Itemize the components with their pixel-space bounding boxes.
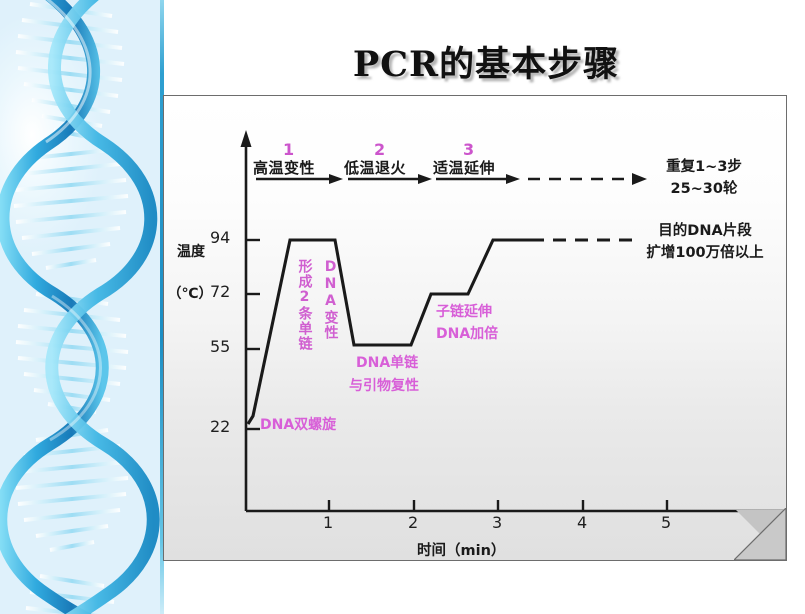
- step-2-number: 2: [374, 141, 385, 160]
- note-cycles-line1: 重复1~3步: [629, 158, 779, 178]
- step1-arrowhead: [329, 174, 343, 184]
- x-tick-label-5: 5: [661, 514, 671, 533]
- step-1-number: 1: [283, 141, 294, 160]
- y-axis-title-line1: 温度: [170, 244, 212, 262]
- chart-panel: 1 高温变性 2 低温退火 3 适温延伸 94 72 55 22 1 2 3 4…: [163, 95, 787, 561]
- step-3-number: 3: [463, 141, 474, 160]
- annotation-denature-left: 形成2条单链: [296, 259, 313, 351]
- note-cycles-line2: 25~30轮: [629, 180, 779, 200]
- page-title: PCR的基本步骤: [276, 36, 696, 87]
- y-tick-label-55: 55: [210, 338, 230, 357]
- page-curl-fold: [736, 510, 786, 560]
- x-tick-label-4: 4: [577, 514, 587, 533]
- annotation-denature-right: DNA变性: [322, 259, 339, 340]
- note-yield-line2: 扩增100万倍以上: [622, 244, 787, 264]
- y-axis-ticks: [246, 240, 260, 429]
- dna-helix-illustration: [0, 0, 160, 614]
- y-axis-arrowhead: [241, 130, 252, 147]
- slide-canvas: PCR的基本步骤: [0, 0, 805, 614]
- step-1-label: 高温变性: [253, 160, 315, 178]
- x-tick-label-3: 3: [492, 514, 502, 533]
- annotation-anneal-line1: DNA单链: [356, 354, 418, 372]
- y-tick-label-94: 94: [210, 229, 230, 248]
- step2-arrowhead: [418, 174, 432, 184]
- y-tick-label-22: 22: [210, 418, 230, 437]
- x-tick-label-2: 2: [408, 514, 418, 533]
- step3-arrowhead: [506, 174, 520, 184]
- step-3-label: 适温延伸: [433, 160, 495, 178]
- annotation-extend-line2: DNA加倍: [436, 325, 498, 343]
- step-2-label: 低温退火: [344, 160, 406, 178]
- annotation-start-dna: DNA双螺旋: [260, 416, 336, 434]
- note-yield-line1: 目的DNA片段: [626, 222, 784, 242]
- annotation-extend-line1: 子链延伸: [436, 303, 492, 321]
- dna-helix-icon: [0, 0, 160, 614]
- x-axis-title: 时间（min）: [417, 543, 505, 560]
- x-tick-label-1: 1: [323, 514, 333, 533]
- x-axis-ticks: [329, 500, 667, 511]
- annotation-anneal-line2: 与引物复性: [349, 377, 419, 395]
- y-axis-title-line2: （℃）: [164, 286, 216, 304]
